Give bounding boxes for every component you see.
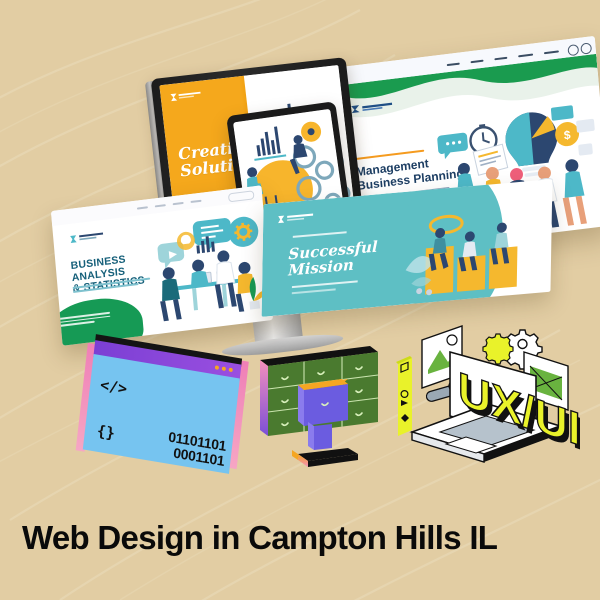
mission-illustration <box>395 194 546 300</box>
binary-text: 01101101 0001101 <box>166 429 227 468</box>
poster-canvas: Management Business Planning $ <box>0 0 600 600</box>
brand-logo <box>69 231 106 245</box>
window-dot[interactable] <box>222 366 226 371</box>
blob-text-lines <box>52 312 111 330</box>
code-browser-window[interactable]: </> {} 01101101 0001101 <box>83 340 242 476</box>
person <box>189 259 209 288</box>
code-tag-glyph: </> <box>99 376 128 398</box>
person <box>157 266 181 321</box>
code-brace-glyph: {} <box>96 422 116 443</box>
uxui-laptop[interactable]: UX/UI UX/UI <box>384 320 580 486</box>
person <box>559 158 587 226</box>
meeting-illustration <box>142 203 271 329</box>
page-title: Web Design in Campton Hills IL <box>22 519 497 557</box>
isometric-green-monitor[interactable] <box>252 344 392 474</box>
window-dot[interactable] <box>215 365 219 370</box>
business-analysis-panel[interactable]: BUSINESS ANALYSIS & STATISTICS <box>51 185 273 345</box>
gear-icon-secondary <box>483 334 513 364</box>
uxui-scene: UX/UI UX/UI <box>384 320 580 486</box>
window-dot[interactable] <box>229 368 233 373</box>
window-controls[interactable] <box>215 365 233 372</box>
toolbar-card <box>396 356 412 436</box>
brand-logo <box>169 89 204 102</box>
